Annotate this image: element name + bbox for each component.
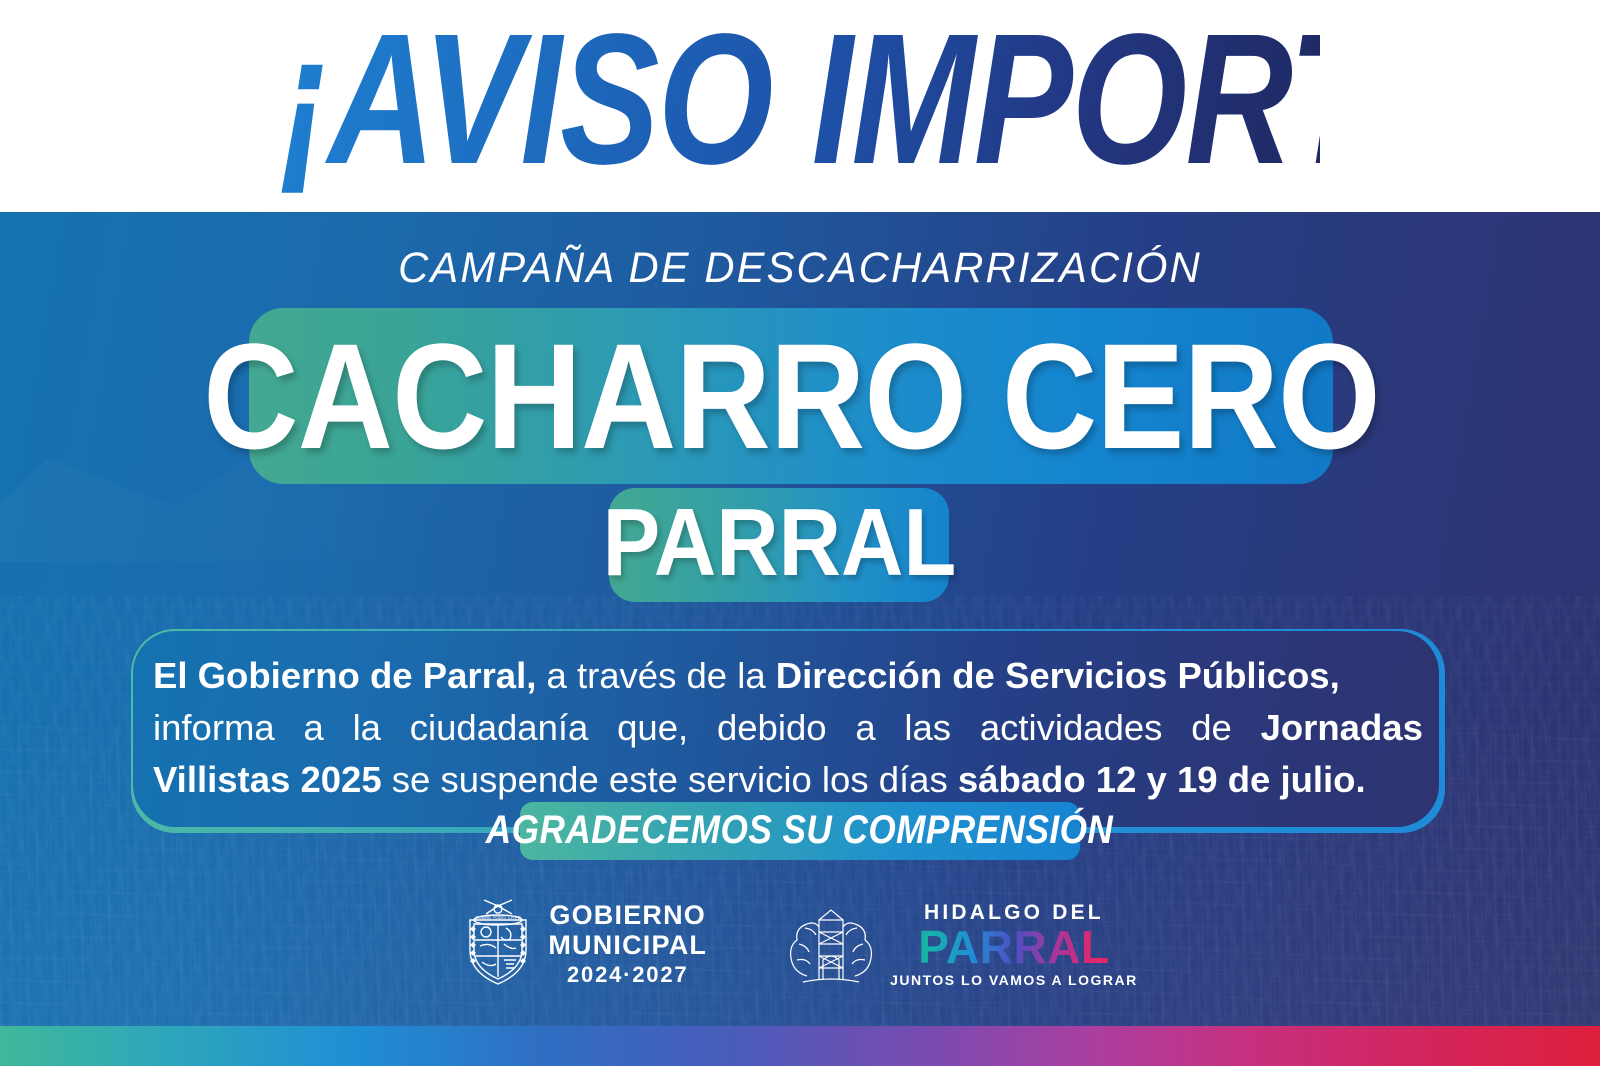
message-word: de [1191, 702, 1232, 754]
shield-motto: SOBRE TODO, LA FE [476, 915, 522, 920]
message-word: que, [617, 702, 688, 754]
message-line-2-bold-tail: Jornadas [1261, 702, 1423, 754]
city-logo-line-3: JUNTOS LO VAMOS A LOGRAR [890, 973, 1138, 987]
city-logo-line-1: HIDALGO DEL [890, 902, 1138, 923]
message-line-1-bold-b: Dirección de Servicios Públicos, [776, 655, 1340, 696]
message-word: a [303, 702, 323, 754]
thanks-text-wrapper: AGRADECEMOS SU COMPRENSIÓN [520, 800, 1080, 860]
logo-row: SOBRE TODO, LA FE GOBIERNO MUNICIPAL 202… [0, 884, 1600, 1004]
message-line-3: Villistas 2025 se suspende este servicio… [153, 754, 1423, 806]
government-logo-line-3: 2024·2027 [548, 964, 707, 986]
campaign-subtitle: PARRAL [602, 493, 956, 593]
government-logo-line-2: MUNICIPAL [548, 932, 707, 959]
campaign-subtitle-wrapper: PARRAL [609, 478, 949, 608]
campaign-title-wrapper: CACHARRO CERO [249, 296, 1333, 496]
message-line-3-bold-b: sábado 12 y 19 de julio. [958, 759, 1366, 800]
message-line-3-normal: se suspende este servicio los días [382, 759, 958, 800]
government-logo-line-1: GOBIERNO [548, 902, 707, 929]
message-line-1: El Gobierno de Parral, a través de la Di… [153, 650, 1423, 702]
message-line-3-bold-a: Villistas 2025 [153, 759, 382, 800]
city-logo: HIDALGO DEL PARRAL JUNTOS LO VAMOS A LOG… [785, 898, 1138, 990]
message-line-1-bold-a: El Gobierno de Parral, [153, 655, 536, 696]
government-logo: SOBRE TODO, LA FE GOBIERNO MUNICIPAL 202… [462, 898, 707, 990]
header-band: ¡AVISO IMPORTANTE! [0, 0, 1600, 212]
message-word: las [904, 702, 951, 754]
message-text: El Gobierno de Parral, a través de la Di… [153, 630, 1423, 826]
campaign-kicker: CAMPAÑA DE DESCACHARRIZACIÓN [24, 244, 1576, 292]
bottom-color-bar [0, 1026, 1600, 1066]
message-line-1-normal: a través de la [536, 655, 775, 696]
message-word: ciudadanía [410, 702, 589, 754]
message-word: actividades [980, 702, 1163, 754]
government-logo-words: GOBIERNO MUNICIPAL 2024·2027 [548, 902, 707, 986]
thanks-label: AGRADECEMOS SU COMPRENSIÓN [486, 808, 1113, 852]
poster: ¡AVISO IMPORTANTE! CAMPAÑA DE DESCACHARR… [0, 0, 1600, 1066]
headline-aviso-importante: ¡AVISO IMPORTANTE! [280, 5, 1320, 195]
message-word: debido [717, 702, 827, 754]
headline-wrapper: ¡AVISO IMPORTANTE! [150, 11, 1450, 201]
message-word: informa [153, 702, 275, 754]
message-word: la [353, 702, 381, 754]
coat-of-arms-shield-icon: SOBRE TODO, LA FE [462, 898, 534, 990]
message-word: a [855, 702, 875, 754]
city-logo-line-2: PARRAL [890, 924, 1138, 970]
mining-headframe-brain-icon [785, 898, 877, 990]
main-panel: CAMPAÑA DE DESCACHARRIZACIÓN CACHARRO CE… [0, 212, 1600, 1026]
message-line-2: informa a la ciudadanía que, debido a la… [153, 702, 1423, 754]
city-logo-words: HIDALGO DEL PARRAL JUNTOS LO VAMOS A LOG… [890, 902, 1138, 987]
campaign-title: CACHARRO CERO [203, 318, 1380, 474]
